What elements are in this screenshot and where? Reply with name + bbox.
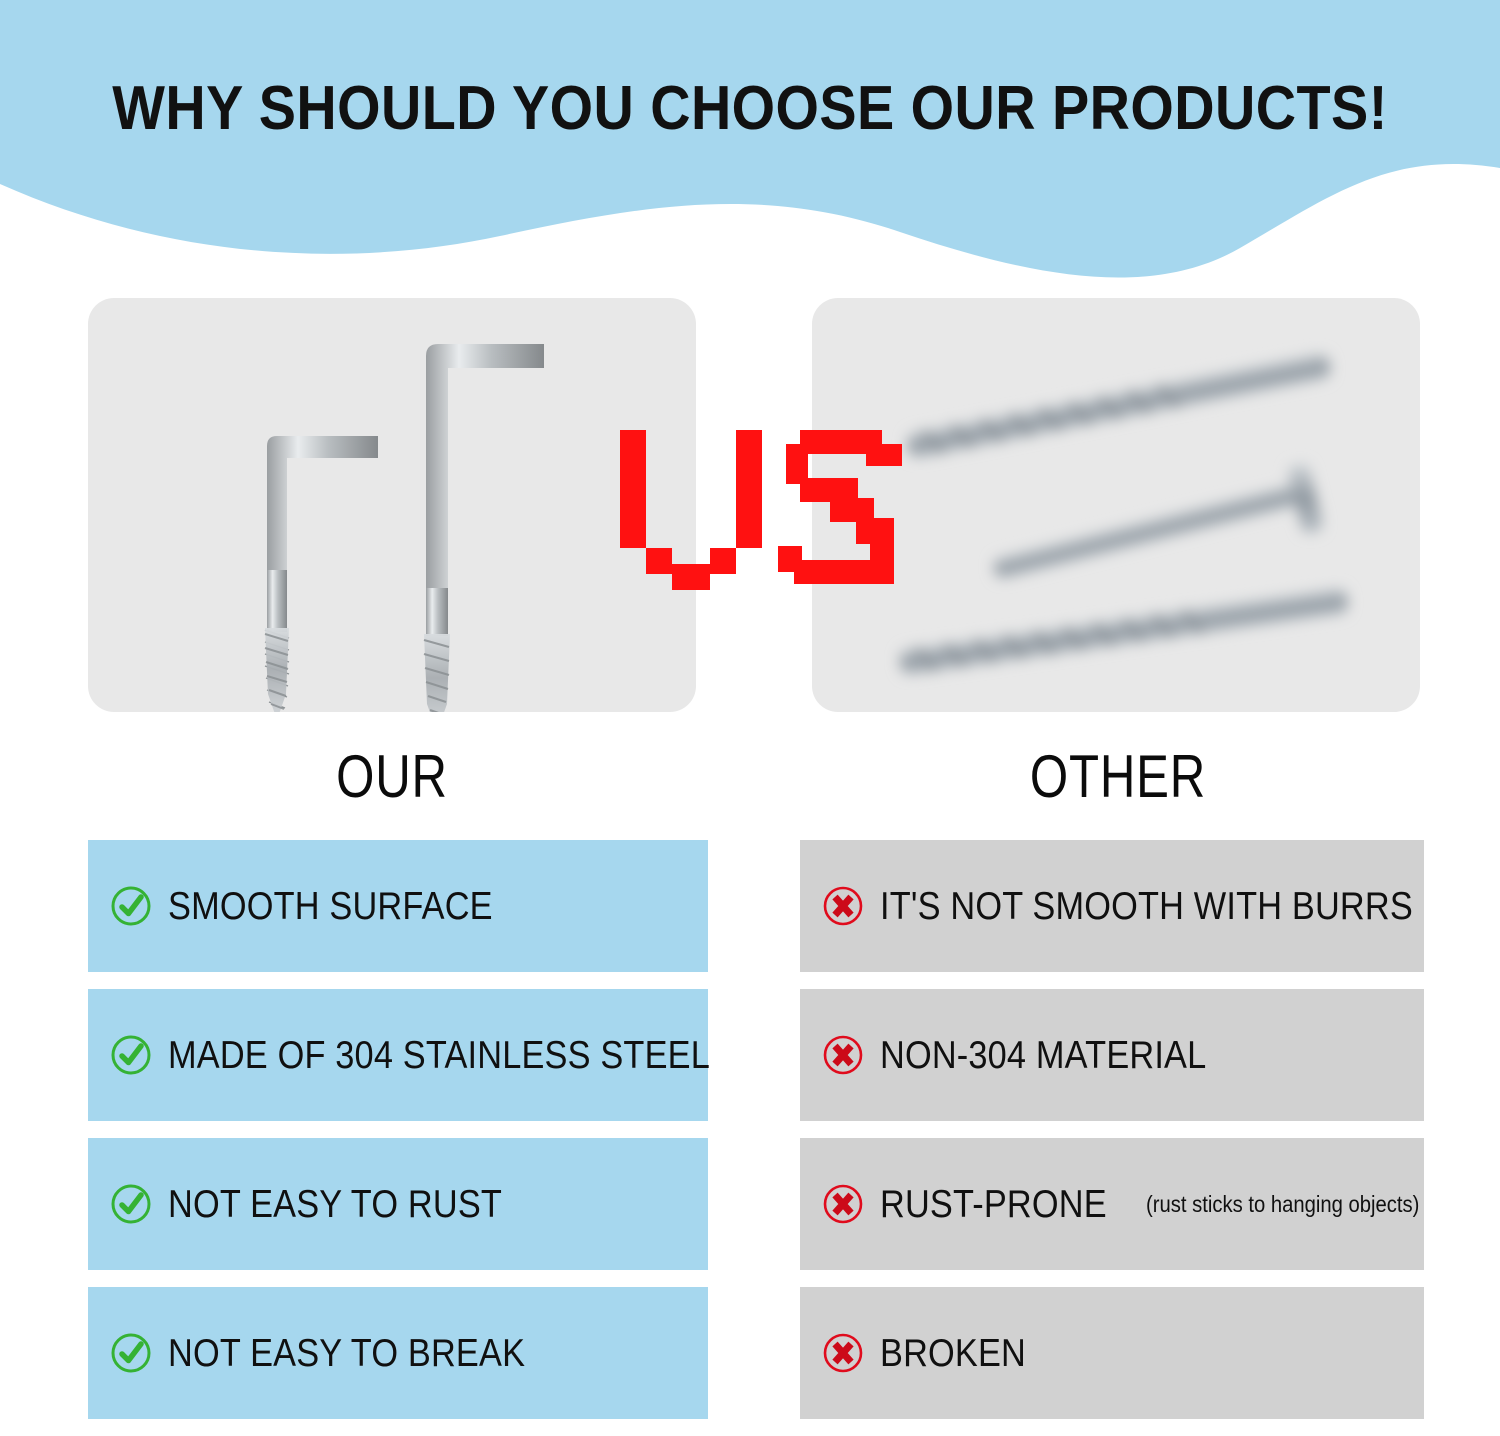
feature-label: NOT EASY TO BREAK	[168, 1334, 525, 1373]
check-circle-icon	[110, 885, 152, 927]
feature-row-other-2: NON-304 MATERIAL	[800, 989, 1424, 1121]
feature-label: IT'S NOT SMOOTH WITH BURRS	[880, 887, 1413, 926]
feature-list-other: IT'S NOT SMOOTH WITH BURRS NON-304 MATER…	[800, 840, 1424, 1436]
feature-label: NON-304 MATERIAL	[880, 1036, 1206, 1075]
feature-row-our-4: NOT EASY TO BREAK	[88, 1287, 708, 1419]
x-circle-icon	[822, 885, 864, 927]
feature-row-our-2: MADE OF 304 STAINLESS STEEL	[88, 989, 708, 1121]
check-circle-icon	[110, 1034, 152, 1076]
feature-label: RUST-PRONE	[880, 1185, 1107, 1224]
check-circle-icon	[110, 1332, 152, 1374]
feature-note: (rust sticks to hanging objects)	[1146, 1193, 1419, 1216]
page-title: WHY SHOULD YOU CHOOSE OUR PRODUCTS!	[75, 76, 1425, 141]
feature-label: SMOOTH SURFACE	[168, 887, 493, 926]
feature-list-our: SMOOTH SURFACE MADE OF 304 STAINLESS STE…	[88, 840, 708, 1436]
feature-label: MADE OF 304 STAINLESS STEEL	[168, 1036, 710, 1075]
feature-row-our-3: NOT EASY TO RUST	[88, 1138, 708, 1270]
product-image-our	[88, 298, 696, 712]
feature-label: BROKEN	[880, 1334, 1026, 1373]
feature-row-other-4: BROKEN	[800, 1287, 1424, 1419]
column-heading-other: OTHER	[867, 742, 1369, 811]
feature-row-other-3: RUST-PRONE (rust sticks to hanging objec…	[800, 1138, 1424, 1270]
vs-letter-v	[620, 430, 762, 590]
feature-label: NOT EASY TO RUST	[168, 1185, 502, 1224]
x-circle-icon	[822, 1332, 864, 1374]
column-heading-our: OUR	[143, 742, 642, 811]
check-circle-icon	[110, 1183, 152, 1225]
x-circle-icon	[822, 1034, 864, 1076]
x-circle-icon	[822, 1183, 864, 1225]
feature-row-our-1: SMOOTH SURFACE	[88, 840, 708, 972]
feature-row-other-1: IT'S NOT SMOOTH WITH BURRS	[800, 840, 1424, 972]
header-wave-shape	[0, 0, 1500, 290]
screw-hooks-illustration	[88, 298, 696, 712]
hook-small	[265, 436, 378, 712]
header-banner: WHY SHOULD YOU CHOOSE OUR PRODUCTS!	[0, 0, 1500, 290]
vs-letter-s	[778, 430, 902, 584]
vs-badge	[608, 420, 908, 600]
vs-pixel-text	[608, 420, 908, 600]
hook-large	[424, 344, 544, 712]
